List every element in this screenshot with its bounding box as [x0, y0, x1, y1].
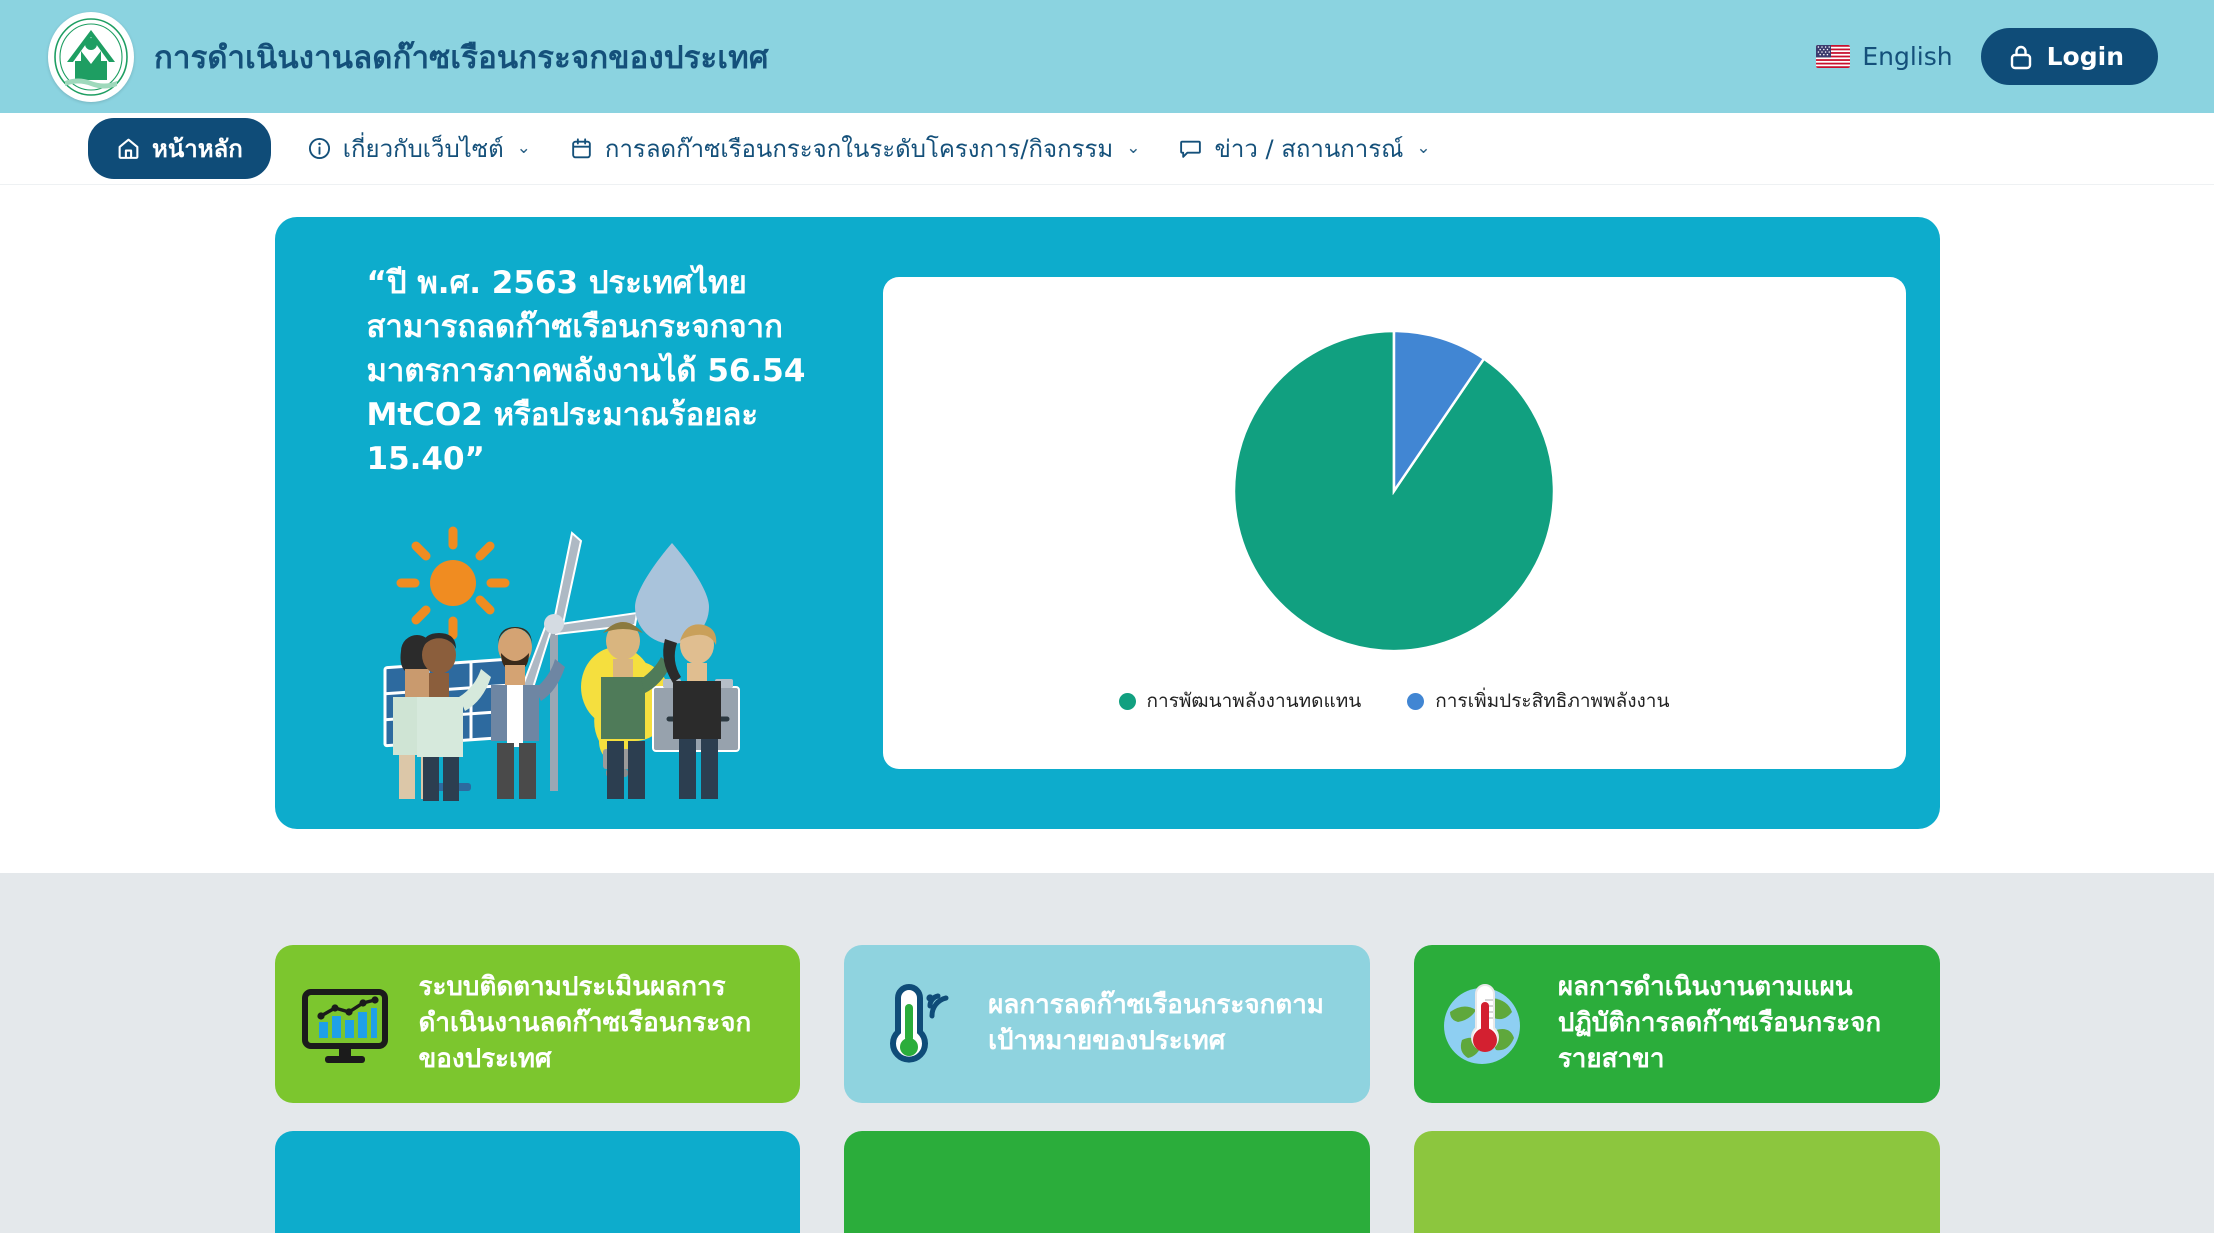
globe-thermometer-icon [1436, 976, 1532, 1072]
brand: การดำเนินงานลดก๊าซเรือนกระจกของประเทศ [48, 12, 769, 102]
hero-card: “ปี พ.ศ. 2563 ประเทศไทยสามารถลดก๊าซเรือน… [275, 217, 1940, 829]
monitor-bar-chart-icon [297, 976, 393, 1072]
chart-card: การพัฒนาพลังงานทดแทนการเพิ่มประสิทธิภาพพ… [883, 277, 1906, 769]
chat-bubble-icon [1178, 136, 1203, 161]
nav-label-home: หน้าหลัก [152, 129, 243, 168]
tile-label: ผลการดำเนินงานตามแผนปฏิบัติการลดก๊าซเรือ… [1558, 970, 1914, 1078]
hero-quote: “ปี พ.ศ. 2563 ประเทศไทยสามารถลดก๊าซเรือน… [367, 261, 837, 481]
nav-item-about[interactable]: เกี่ยวกับเว็บไซต์ ⌄ [305, 123, 533, 174]
chevron-down-icon: ⌄ [517, 140, 531, 157]
legend-entry[interactable]: การพัฒนาพลังงานทดแทน [1119, 686, 1362, 716]
home-icon [116, 136, 141, 161]
tile-row2-item1[interactable] [275, 1131, 801, 1233]
chevron-down-icon: ⌄ [1126, 140, 1140, 157]
pie-chart[interactable] [1233, 330, 1555, 652]
legend-swatch [1407, 693, 1424, 710]
legend-swatch [1119, 693, 1136, 710]
ministry-emblem-icon [48, 12, 134, 102]
nav-item-home[interactable]: หน้าหลัก [88, 118, 271, 179]
chevron-down-icon: ⌄ [1416, 140, 1430, 157]
calendar-icon [569, 136, 594, 161]
hero-section: “ปี พ.ศ. 2563 ประเทศไทยสามารถลดก๊าซเรือน… [0, 185, 2214, 873]
legend-label: การพัฒนาพลังงานทดแทน [1147, 686, 1362, 716]
header-actions: English Login [1816, 28, 2158, 85]
legend-label: การเพิ่มประสิทธิภาพพลังงาน [1435, 686, 1669, 716]
login-label: Login [2047, 42, 2124, 71]
renewable-energy-people-illustration [367, 521, 767, 801]
tile-row2-item2[interactable] [844, 1131, 1370, 1233]
language-label: English [1862, 42, 1952, 71]
site-header: การดำเนินงานลดก๊าซเรือนกระจกของประเทศ [0, 0, 2214, 113]
hero-left-column: “ปี พ.ศ. 2563 ประเทศไทยสามารถลดก๊าซเรือน… [309, 245, 857, 801]
nav-label-news: ข่าว / สถานการณ์ [1214, 129, 1403, 168]
lock-icon [2009, 44, 2033, 70]
quick-links-section: ระบบติดตามประเมินผลการดำเนินงานลดก๊าซเรื… [0, 873, 2214, 1233]
chart-legend: การพัฒนาพลังงานทดแทนการเพิ่มประสิทธิภาพพ… [1119, 686, 1670, 716]
language-switcher[interactable]: English [1816, 42, 1952, 71]
thermometer-signal-icon [866, 976, 962, 1072]
tile-row2-item3[interactable] [1414, 1131, 1940, 1233]
nav-item-news[interactable]: ข่าว / สถานการณ์ ⌄ [1176, 123, 1432, 174]
tile-label: ผลการลดก๊าซเรือนกระจกตามเป้าหมายของประเท… [988, 988, 1344, 1060]
main-navigation: หน้าหลัก เกี่ยวกับเว็บไซต์ ⌄ การลดก๊าซเร… [0, 113, 2214, 185]
nav-label-about: เกี่ยวกับเว็บไซต์ [343, 129, 504, 168]
legend-entry[interactable]: การเพิ่มประสิทธิภาพพลังงาน [1407, 686, 1669, 716]
quick-links-grid: ระบบติดตามประเมินผลการดำเนินงานลดก๊าซเรื… [275, 945, 1940, 1233]
nav-label-project-level: การลดก๊าซเรือนกระจกในระดับโครงการ/กิจกรร… [605, 129, 1113, 168]
us-flag-icon [1816, 45, 1850, 68]
nav-item-project-level[interactable]: การลดก๊าซเรือนกระจกในระดับโครงการ/กิจกรร… [567, 123, 1143, 174]
tile-sector-action-plan[interactable]: ผลการดำเนินงานตามแผนปฏิบัติการลดก๊าซเรือ… [1414, 945, 1940, 1103]
tile-ghg-target-results[interactable]: ผลการลดก๊าซเรือนกระจกตามเป้าหมายของประเท… [844, 945, 1370, 1103]
tile-label: ระบบติดตามประเมินผลการดำเนินงานลดก๊าซเรื… [419, 970, 775, 1078]
info-icon [307, 136, 332, 161]
login-button[interactable]: Login [1981, 28, 2158, 85]
page-title: การดำเนินงานลดก๊าซเรือนกระจกของประเทศ [154, 32, 769, 82]
tile-monitoring-system[interactable]: ระบบติดตามประเมินผลการดำเนินงานลดก๊าซเรื… [275, 945, 801, 1103]
